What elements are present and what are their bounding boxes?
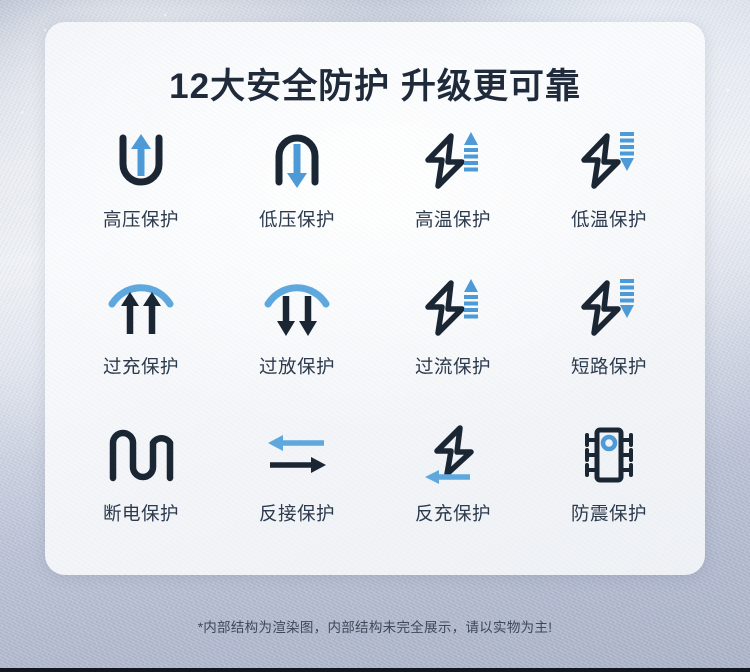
feature-item-overdischarge: 过放保护 <box>219 269 375 416</box>
feature-item-reverse-charge: 反充保护 <box>375 416 531 563</box>
feature-label: 过放保护 <box>259 353 335 379</box>
feature-item-power-cut: 断电保护 <box>63 416 219 563</box>
u-shape-up-arrow-icon <box>101 122 181 200</box>
feature-item-reverse-connection: 反接保护 <box>219 416 375 563</box>
page-title: 12大安全防护 升级更可靠 <box>45 58 705 109</box>
arc-double-up-arrows-icon <box>101 269 181 347</box>
disclaimer-note: *内部结构为渲染图，内部结构未完全展示，请以实物为主! <box>0 616 750 636</box>
bolt-left-arrow-icon <box>413 416 493 494</box>
protection-feature-grid: 高压保护 低压保护 <box>63 122 687 563</box>
feature-label: 过流保护 <box>415 353 491 379</box>
chip-icon <box>569 416 649 494</box>
feature-item-high-temperature: 高温保护 <box>375 122 531 269</box>
bolt-thermometer-up-icon <box>413 269 493 347</box>
feature-label: 断电保护 <box>103 500 179 526</box>
feature-item-shock-proof: 防震保护 <box>531 416 687 563</box>
arc-double-down-arrows-icon <box>257 269 337 347</box>
feature-item-low-voltage: 低压保护 <box>219 122 375 269</box>
feature-item-overcurrent: 过流保护 <box>375 269 531 416</box>
bottom-edge-strip <box>0 668 750 672</box>
serpentine-wave-icon <box>101 416 181 494</box>
feature-item-short-circuit: 短路保护 <box>531 269 687 416</box>
feature-label: 反接保护 <box>259 500 335 526</box>
bolt-thermometer-down-icon <box>569 122 649 200</box>
feature-item-high-voltage: 高压保护 <box>63 122 219 269</box>
feature-label: 短路保护 <box>571 353 647 379</box>
feature-label: 高压保护 <box>103 206 179 232</box>
feature-label: 低压保护 <box>259 206 335 232</box>
bolt-thermometer-down-icon <box>569 269 649 347</box>
feature-label: 反充保护 <box>415 500 491 526</box>
two-opposite-arrows-icon <box>257 416 337 494</box>
feature-label: 过充保护 <box>103 353 179 379</box>
feature-label: 防震保护 <box>571 500 647 526</box>
arch-down-arrow-icon <box>257 122 337 200</box>
bolt-thermometer-up-icon <box>413 122 493 200</box>
feature-label: 低温保护 <box>571 206 647 232</box>
feature-label: 高温保护 <box>415 206 491 232</box>
feature-card: 12大安全防护 升级更可靠 高压保护 低压保护 <box>45 22 705 575</box>
feature-item-overcharge: 过充保护 <box>63 269 219 416</box>
feature-item-low-temperature: 低温保护 <box>531 122 687 269</box>
